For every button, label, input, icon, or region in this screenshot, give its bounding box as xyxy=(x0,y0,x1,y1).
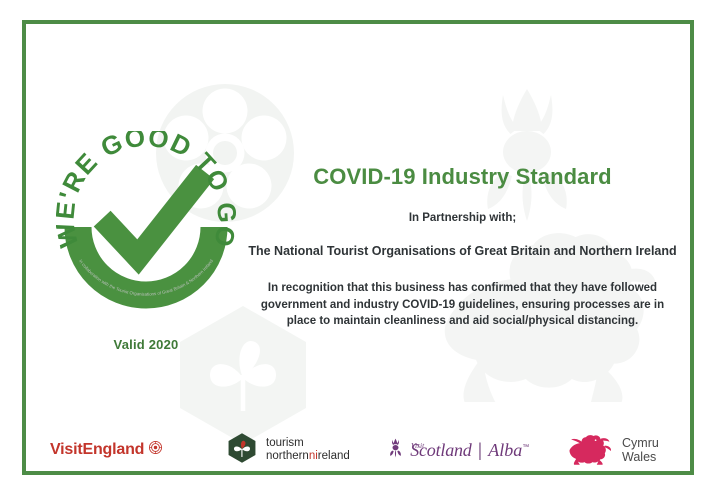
visitscotland-wordmark: Visit Scotland | Alba ™ xyxy=(408,440,529,461)
tourism-ni-line2-highlight: ni xyxy=(309,450,318,462)
tourism-ni-line1: tourism xyxy=(266,437,304,449)
recognition-statement: In recognition that this business has co… xyxy=(240,280,685,330)
partner-logo-tourism-northern-ireland: tourism northernnireland xyxy=(226,424,350,476)
cymru-wales-wordmark: Cymru Wales xyxy=(622,436,659,465)
page-title: COVID-19 Industry Standard xyxy=(240,164,685,190)
partner-organisations-text: The National Tourist Organisations of Gr… xyxy=(240,244,685,258)
tourism-ni-wordmark: tourism northernnireland xyxy=(266,437,350,463)
shamrock-hexagon-icon xyxy=(226,432,258,469)
visitengland-wordmark: VisitEngland xyxy=(50,441,144,459)
thistle-icon xyxy=(388,438,403,463)
good-to-go-logo: WE'RE GOOD TO GO In collaboration with t… xyxy=(56,131,236,311)
visitscotland-alba-text: Alba xyxy=(488,440,522,461)
tourism-ni-line2-prefix: northern xyxy=(266,450,309,462)
partner-logo-row: VisitEngland xyxy=(40,424,686,476)
partnership-label: In Partnership with; xyxy=(240,212,685,224)
visitscotland-visit-text: Visit xyxy=(411,441,424,450)
certificate-page: WE'RE GOOD TO GO In collaboration with t… xyxy=(0,0,721,497)
partner-logo-visitengland: VisitEngland xyxy=(50,424,162,476)
welsh-dragon-icon xyxy=(568,430,614,470)
valid-year-label: Valid 2020 xyxy=(56,337,236,352)
visitscotland-separator: | xyxy=(478,440,483,461)
certificate-text-block: COVID-19 Industry Standard In Partnershi… xyxy=(240,164,685,330)
cymru-wales-line2: Wales xyxy=(622,450,656,464)
partner-logo-cymru-wales: Cymru Wales xyxy=(568,424,659,476)
partner-logo-visitscotland: Visit Scotland | Alba ™ xyxy=(388,424,529,476)
visitscotland-trademark: ™ xyxy=(522,444,529,451)
cymru-wales-line1: Cymru xyxy=(622,436,659,450)
tourism-ni-line2-suffix: reland xyxy=(318,450,350,462)
tudor-rose-icon xyxy=(149,441,162,459)
